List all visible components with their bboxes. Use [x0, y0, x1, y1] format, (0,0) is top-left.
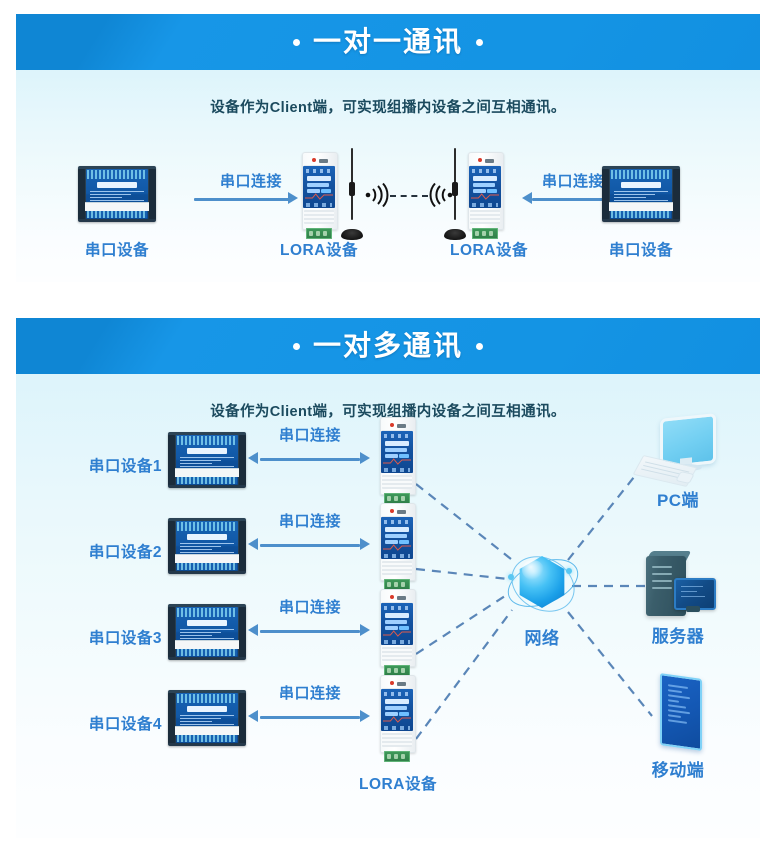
- endpoint-label-pc: PC端: [657, 491, 699, 510]
- row-label-serial-device-1: 串口设备1: [89, 458, 162, 475]
- row-link-label-4: 串口连接: [279, 685, 341, 702]
- row-arrow-head-right-4-icon: [360, 710, 370, 722]
- node-serial-device-left: [78, 166, 156, 222]
- network-globe-icon: [504, 546, 580, 622]
- node-label-serial-device-right: 串口设备: [609, 242, 673, 259]
- row-serial-device-1: [168, 432, 246, 488]
- row-label-serial-device-4: 串口设备4: [89, 716, 162, 733]
- lora-device-icon: [300, 152, 338, 240]
- node-label-lora-left: LORA设备: [280, 242, 358, 259]
- endpoint-label-mobile: 移动端: [652, 761, 705, 780]
- serial-device-icon: [602, 166, 680, 222]
- row-arrow-shaft-4: [260, 716, 360, 719]
- row-arrow-head-right-3-icon: [360, 624, 370, 636]
- row-lora-device-1: [378, 417, 416, 505]
- row-arrow-head-left-3-icon: [248, 624, 258, 636]
- network-node: [504, 546, 580, 622]
- row-arrow-head-right-1-icon: [360, 452, 370, 464]
- network-label: 网络: [525, 629, 560, 648]
- row-link-label-3: 串口连接: [279, 599, 341, 616]
- antenna-left-icon: [341, 148, 363, 240]
- endpoint-pc: [638, 416, 722, 486]
- row-arrow-head-left-1-icon: [248, 452, 258, 464]
- row-link-label-1: 串口连接: [279, 427, 341, 444]
- row-serial-device-4: [168, 690, 246, 746]
- row-label-serial-device-3: 串口设备3: [89, 630, 162, 647]
- lora-group-label: LORA设备: [359, 776, 437, 793]
- node-serial-device-right: [602, 166, 680, 222]
- serial-device-icon: [78, 166, 156, 222]
- endpoint-mobile: [646, 676, 710, 752]
- row-arrow-shaft-3: [260, 630, 360, 633]
- row-arrow-head-right-2-icon: [360, 538, 370, 550]
- arrow-head-left-icon: [288, 192, 298, 204]
- bullet-dot-right-icon: [476, 343, 483, 350]
- row-serial-device-2: [168, 518, 246, 574]
- serial-device-icon: [168, 690, 246, 746]
- serial-device-icon: [168, 432, 246, 488]
- bullet-dot-left-icon: [293, 39, 300, 46]
- section-subtitle: 设备作为Client端，可实现组播内设备之间互相通讯。: [16, 96, 760, 117]
- row-lora-device-3: [378, 589, 416, 677]
- node-label-serial-device-left: 串口设备: [85, 242, 149, 259]
- serial-device-icon: [168, 518, 246, 574]
- bullet-dot-left-icon: [293, 343, 300, 350]
- row-arrow-head-left-4-icon: [248, 710, 258, 722]
- row-arrow-head-left-2-icon: [248, 538, 258, 550]
- arrow-head-right-icon: [522, 192, 532, 204]
- section-title: 一对多通讯: [313, 332, 463, 360]
- row-lora-device-4: [378, 675, 416, 763]
- infographic-page: 一对一通讯 设备作为Client端，可实现组播内设备之间互相通讯。: [0, 0, 776, 850]
- endpoint-label-server: 服务器: [652, 627, 705, 646]
- lora-device-icon: [378, 417, 416, 505]
- section-one-to-one: 一对一通讯 设备作为Client端，可实现组播内设备之间互相通讯。: [16, 14, 760, 282]
- row-lora-device-2: [378, 503, 416, 591]
- row-label-serial-device-2: 串口设备2: [89, 544, 162, 561]
- section-header-one-to-one: 一对一通讯: [16, 14, 760, 70]
- desktop-computer-icon: [638, 416, 722, 486]
- wireless-dashed-link: [390, 195, 428, 197]
- arrow-shaft-left: [194, 198, 290, 201]
- lora-device-icon: [378, 675, 416, 763]
- server-icon: [638, 556, 722, 622]
- node-lora-device-right: [466, 152, 504, 240]
- section-body-one-to-many: 设备作为Client端，可实现组播内设备之间互相通讯。 串口设备1: [16, 374, 760, 838]
- node-lora-device-left: [300, 152, 338, 240]
- lora-device-icon: [466, 152, 504, 240]
- link-label-serial-left: 串口连接: [220, 173, 282, 190]
- section-one-to-many: 一对多通讯 设备作为Client端，可实现组播内设备之间互相通讯。: [16, 318, 760, 838]
- wifi-arc-left-icon: [364, 182, 390, 208]
- lora-device-icon: [378, 589, 416, 677]
- section-title: 一对一通讯: [313, 28, 463, 56]
- section-header-one-to-many: 一对多通讯: [16, 318, 760, 374]
- endpoint-server: [638, 556, 722, 622]
- serial-device-icon: [168, 604, 246, 660]
- antenna-right-icon: [444, 148, 466, 240]
- bullet-dot-right-icon: [476, 39, 483, 46]
- node-label-lora-right: LORA设备: [450, 242, 528, 259]
- row-link-label-2: 串口连接: [279, 513, 341, 530]
- lora-device-icon: [378, 503, 416, 591]
- mobile-device-icon: [646, 676, 710, 752]
- row-arrow-shaft-2: [260, 544, 360, 547]
- section-body-one-to-one: 设备作为Client端，可实现组播内设备之间互相通讯。: [16, 70, 760, 282]
- row-arrow-shaft-1: [260, 458, 360, 461]
- row-serial-device-3: [168, 604, 246, 660]
- link-label-serial-right: 串口连接: [542, 173, 604, 190]
